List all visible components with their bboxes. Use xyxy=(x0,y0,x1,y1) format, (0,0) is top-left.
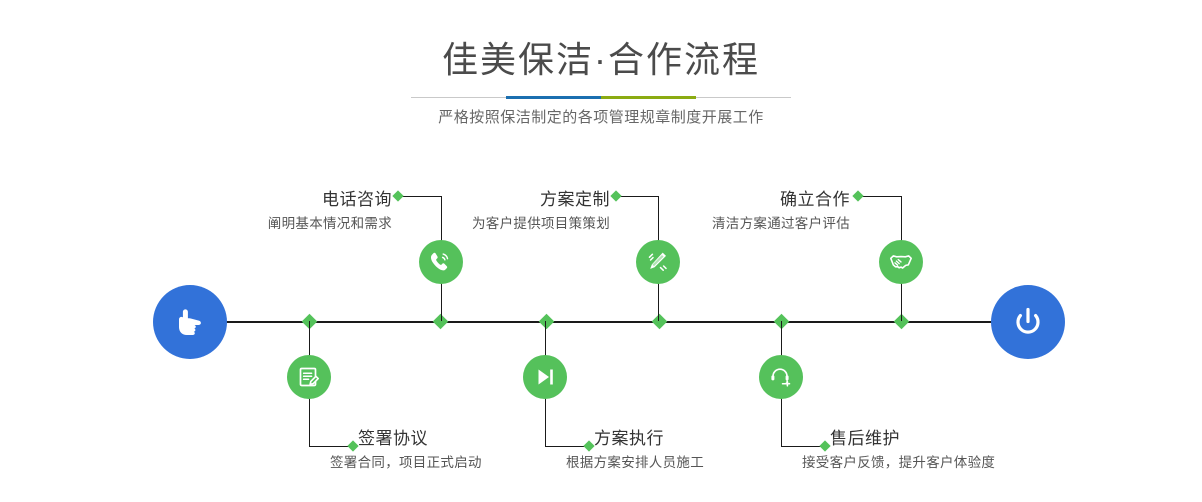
contract-sign-icon xyxy=(296,364,322,390)
divider-rule-right xyxy=(696,97,791,98)
step-1-desc: 阐明基本情况和需求 xyxy=(158,213,392,235)
page-subtitle: 严格按照保洁制定的各项管理规章制度开展工作 xyxy=(0,106,1202,130)
step-2-title: 签署协议 xyxy=(358,427,618,451)
step-5-lead xyxy=(858,196,902,197)
step-5-icon-circle[interactable] xyxy=(879,240,923,284)
step-5-lead-dot xyxy=(852,190,863,201)
flowchart-page: 佳美保洁·合作流程 严格按照保洁制定的各项管理规章制度开展工作 xyxy=(0,0,1202,502)
divider-segment-blue xyxy=(506,96,601,99)
step-3-desc: 为客户提供项目策策划 xyxy=(370,213,610,235)
pointing-hand-icon xyxy=(170,302,210,342)
step-1-lead-dot xyxy=(392,190,403,201)
divider-rule-left xyxy=(411,97,506,98)
axis-marker-4 xyxy=(652,314,668,330)
step-3-icon-circle[interactable] xyxy=(636,240,680,284)
timeline-start-node[interactable] xyxy=(153,285,227,359)
support-agent-add-icon xyxy=(768,364,794,390)
step-6-title: 售后维护 xyxy=(830,427,1110,451)
step-6-lead xyxy=(781,446,825,447)
step-5-title: 确立合作 xyxy=(660,188,850,212)
divider-segment-green xyxy=(601,96,696,99)
step-5-desc: 清洁方案通过客户评估 xyxy=(610,213,850,235)
axis-marker-3 xyxy=(539,314,555,330)
timeline-end-node[interactable] xyxy=(991,285,1065,359)
step-2-lead-dot xyxy=(347,440,358,451)
title-divider xyxy=(411,96,791,99)
step-2-icon-circle[interactable] xyxy=(287,355,331,399)
step-2-lead xyxy=(309,446,353,447)
handshake-icon xyxy=(888,249,914,275)
pencil-edit-icon xyxy=(645,249,671,275)
step-6-desc: 接受客户反馈，提升客户体验度 xyxy=(802,452,1132,474)
step-3-lead-dot xyxy=(610,190,621,201)
step-1-icon-circle[interactable] xyxy=(419,240,463,284)
step-4-icon-circle[interactable] xyxy=(523,355,567,399)
step-3-lead xyxy=(616,196,659,197)
power-icon xyxy=(1008,302,1048,342)
page-title: 佳美保洁·合作流程 xyxy=(0,38,1202,82)
step-4-lead xyxy=(545,446,589,447)
step-1-title: 电话咨询 xyxy=(198,188,392,212)
step-3-title: 方案定制 xyxy=(416,188,610,212)
step-6-icon-circle[interactable] xyxy=(759,355,803,399)
phone-call-icon xyxy=(428,249,454,275)
play-execute-icon xyxy=(532,364,558,390)
